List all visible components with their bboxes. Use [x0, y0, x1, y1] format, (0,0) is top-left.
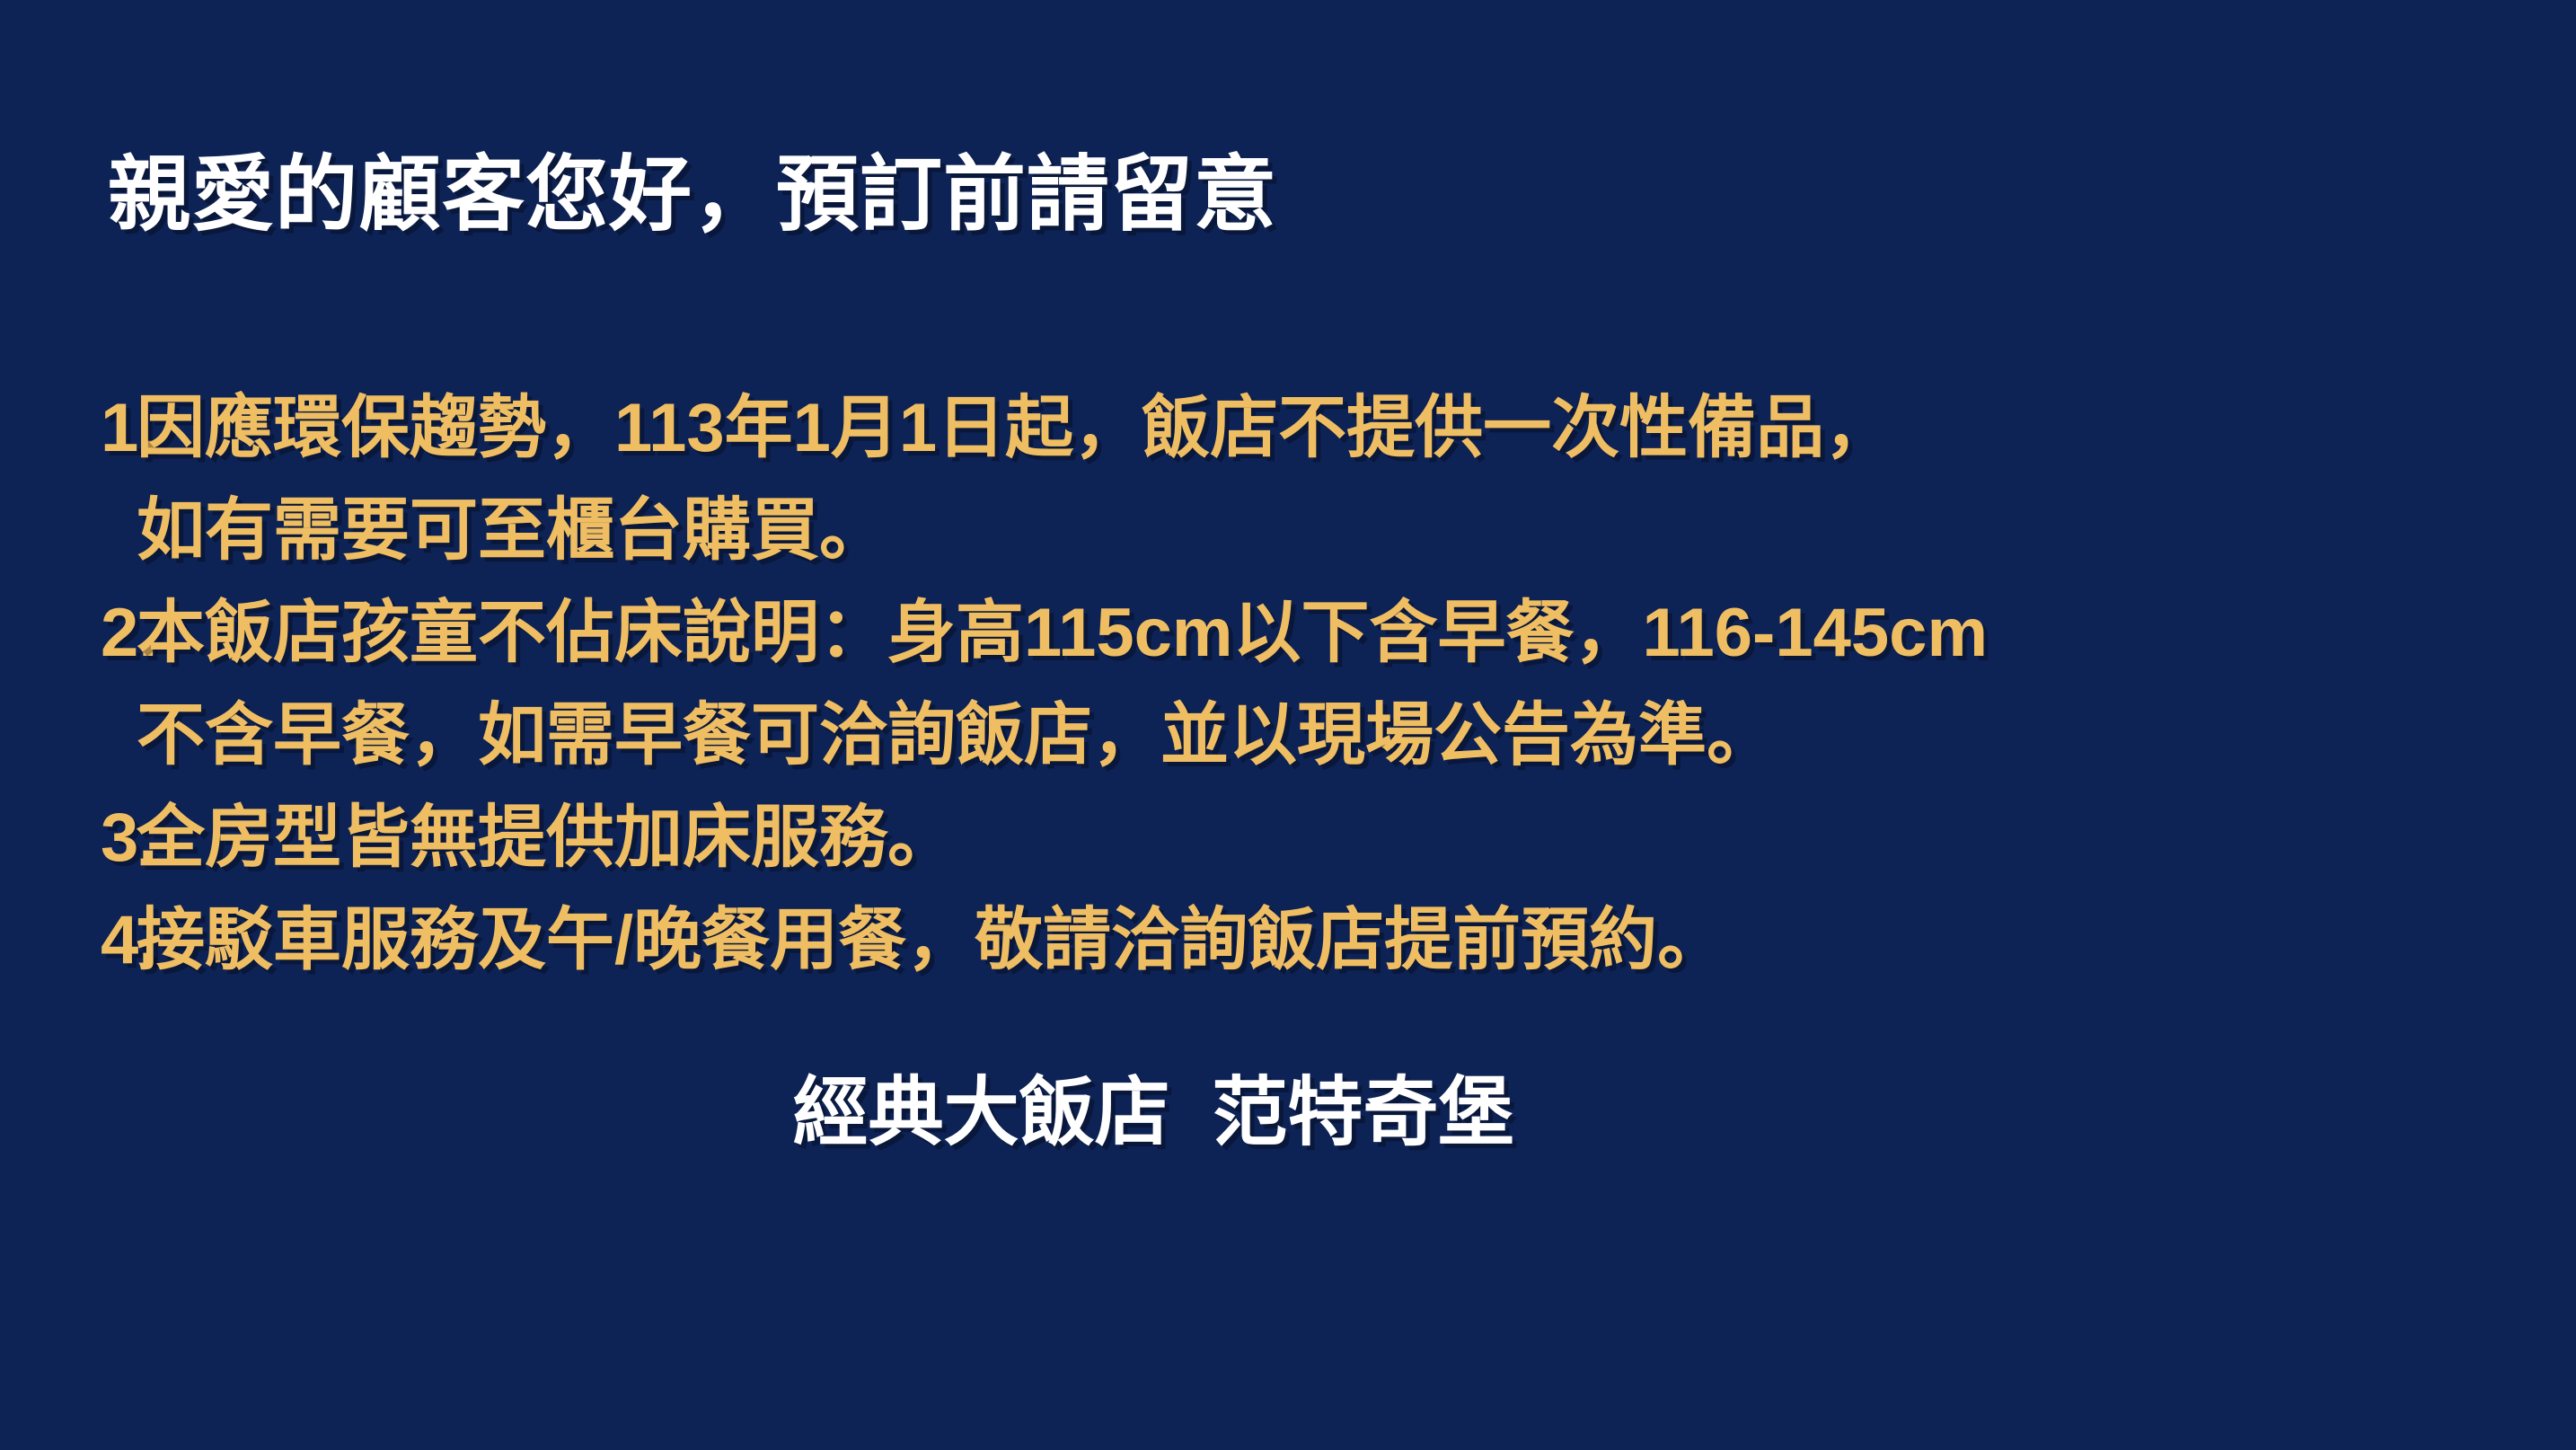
page-title: 親愛的顧客您好，預訂前請留意	[108, 149, 1277, 242]
list-item-number: 2.	[0, 582, 137, 685]
list-item-line: 全房型皆無提供加床服務。	[137, 800, 956, 876]
list-item-body: 全房型皆無提供加床服務。	[137, 787, 2576, 889]
list-item-body: 因應環保趨勢，113年1月1日起，飯店不提供一次性備品， 如有需要可至櫃台購買。	[137, 377, 2576, 582]
list-item-line: 如有需要可至櫃台購買。	[137, 492, 887, 569]
list-item-line: 因應環保趨勢，113年1月1日起，飯店不提供一次性備品，	[137, 390, 1892, 466]
notice-slide: 親愛的顧客您好，預訂前請留意 1. 因應環保趨勢，113年1月1日起，飯店不提供…	[0, 0, 2576, 1450]
list-item-line: 接駁車服務及午/晚餐用餐，敬請洽詢飯店提前預約。	[137, 902, 1725, 978]
notice-list: 1. 因應環保趨勢，113年1月1日起，飯店不提供一次性備品， 如有需要可至櫃台…	[0, 377, 2576, 992]
list-item: 1. 因應環保趨勢，113年1月1日起，飯店不提供一次性備品， 如有需要可至櫃台…	[0, 377, 2576, 582]
list-item: 2. 本飯店孩童不佔床說明：身高115cm以下含早餐，116-145cm 不含早…	[0, 582, 2576, 787]
list-item: 4. 接駁車服務及午/晚餐用餐，敬請洽詢飯店提前預約。	[0, 889, 2576, 992]
list-item: 3. 全房型皆無提供加床服務。	[0, 787, 2576, 889]
list-item-body: 本飯店孩童不佔床說明：身高115cm以下含早餐，116-145cm 不含早餐，如…	[137, 582, 2576, 787]
list-item-body: 接駁車服務及午/晚餐用餐，敬請洽詢飯店提前預約。	[137, 889, 2576, 992]
list-item-number: 4.	[0, 889, 137, 992]
list-item-number: 1.	[0, 377, 137, 480]
list-item-line: 不含早餐，如需早餐可洽詢飯店，並以現場公告為準。	[137, 697, 1775, 774]
hotel-signature: 經典大飯店 范特奇堡	[0, 1067, 2576, 1158]
list-item-line: 本飯店孩童不佔床說明：身高115cm以下含早餐，116-145cm	[137, 595, 1988, 671]
list-item-number: 3.	[0, 787, 137, 889]
